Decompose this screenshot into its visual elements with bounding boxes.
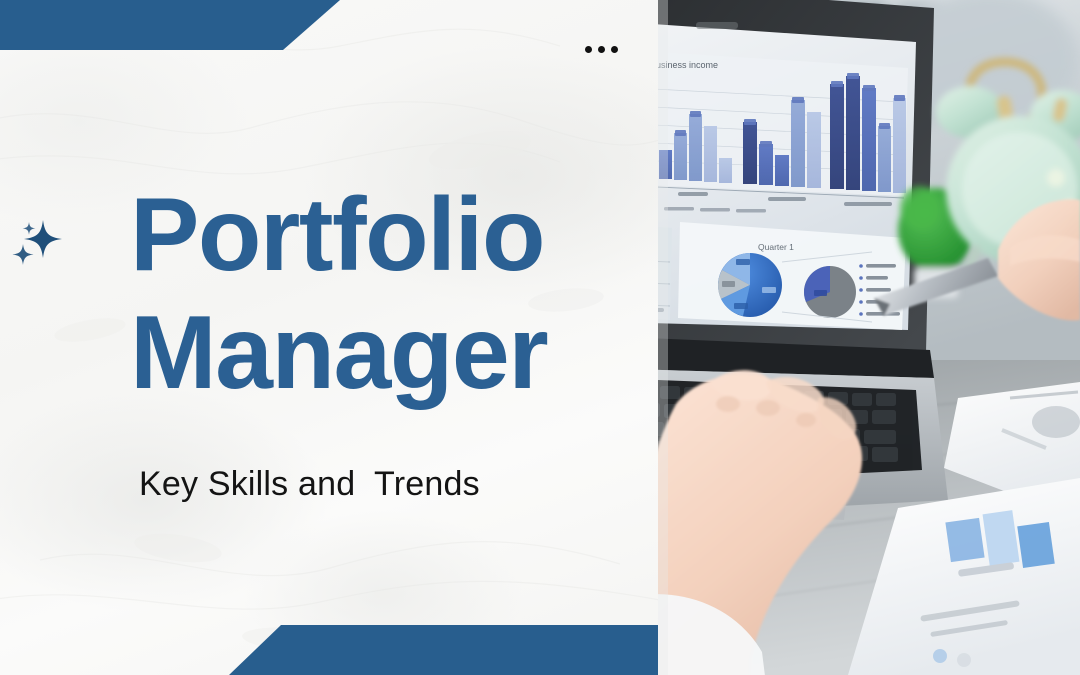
title-line-2: Manager bbox=[130, 304, 650, 404]
title-line-1: Portfolio bbox=[130, 186, 650, 286]
dot-icon bbox=[585, 46, 592, 53]
dot-icon bbox=[598, 46, 605, 53]
left-content-panel: Portfolio Manager Key Skills and Trends bbox=[0, 0, 660, 675]
page-title: Portfolio Manager bbox=[130, 186, 650, 404]
page-subtitle: Key Skills and Trends bbox=[139, 465, 480, 504]
svg-text:Quarter 1: Quarter 1 bbox=[758, 242, 794, 252]
banner-top bbox=[0, 0, 340, 50]
dot-icon bbox=[611, 46, 618, 53]
sparkle-small-icon bbox=[23, 222, 36, 235]
banner-bottom bbox=[0, 625, 660, 675]
menu-dots[interactable] bbox=[585, 46, 618, 53]
desk-scene-illustration: Business income bbox=[658, 0, 1080, 675]
sparkle-decoration bbox=[8, 212, 70, 270]
hero-photo: Business income bbox=[658, 0, 1080, 675]
sparkle-medium-icon bbox=[13, 244, 34, 265]
slide-canvas: Portfolio Manager Key Skills and Trends bbox=[0, 0, 1080, 675]
